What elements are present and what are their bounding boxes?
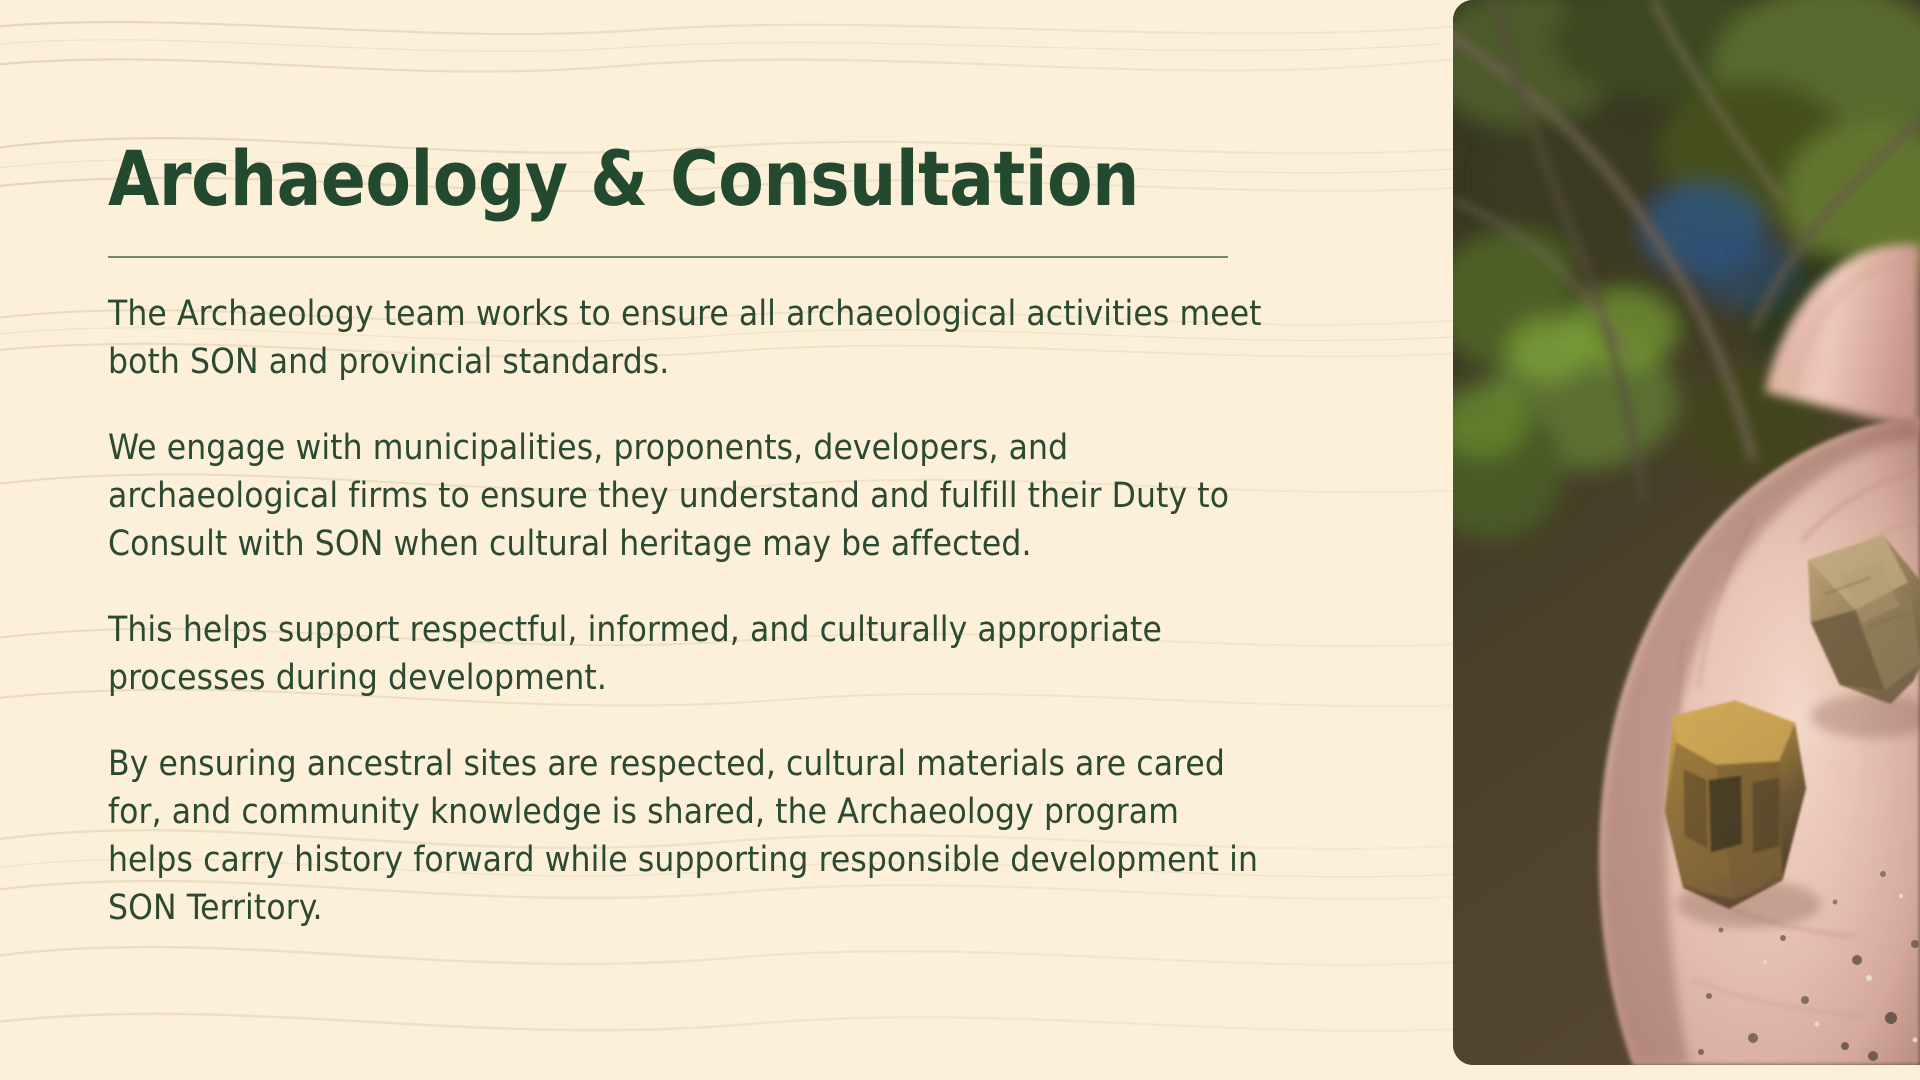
slide-root: Archaeology & Consultation The Archaeolo…	[0, 0, 1920, 1080]
content-column: Archaeology & Consultation The Archaeolo…	[108, 0, 1238, 1080]
paragraph-1: The Archaeology team works to ensure all…	[108, 290, 1268, 386]
paragraph-4: By ensuring ancestral sites are respecte…	[108, 740, 1268, 932]
body-copy: The Archaeology team works to ensure all…	[108, 290, 1268, 932]
page-title: Archaeology & Consultation	[108, 140, 1139, 218]
paragraph-3: This helps support respectful, informed,…	[108, 606, 1268, 702]
hand-holding-stone-artifacts-photo	[1453, 0, 1920, 1065]
paragraph-2: We engage with municipalities, proponent…	[108, 424, 1268, 568]
title-divider-rule	[108, 256, 1228, 258]
